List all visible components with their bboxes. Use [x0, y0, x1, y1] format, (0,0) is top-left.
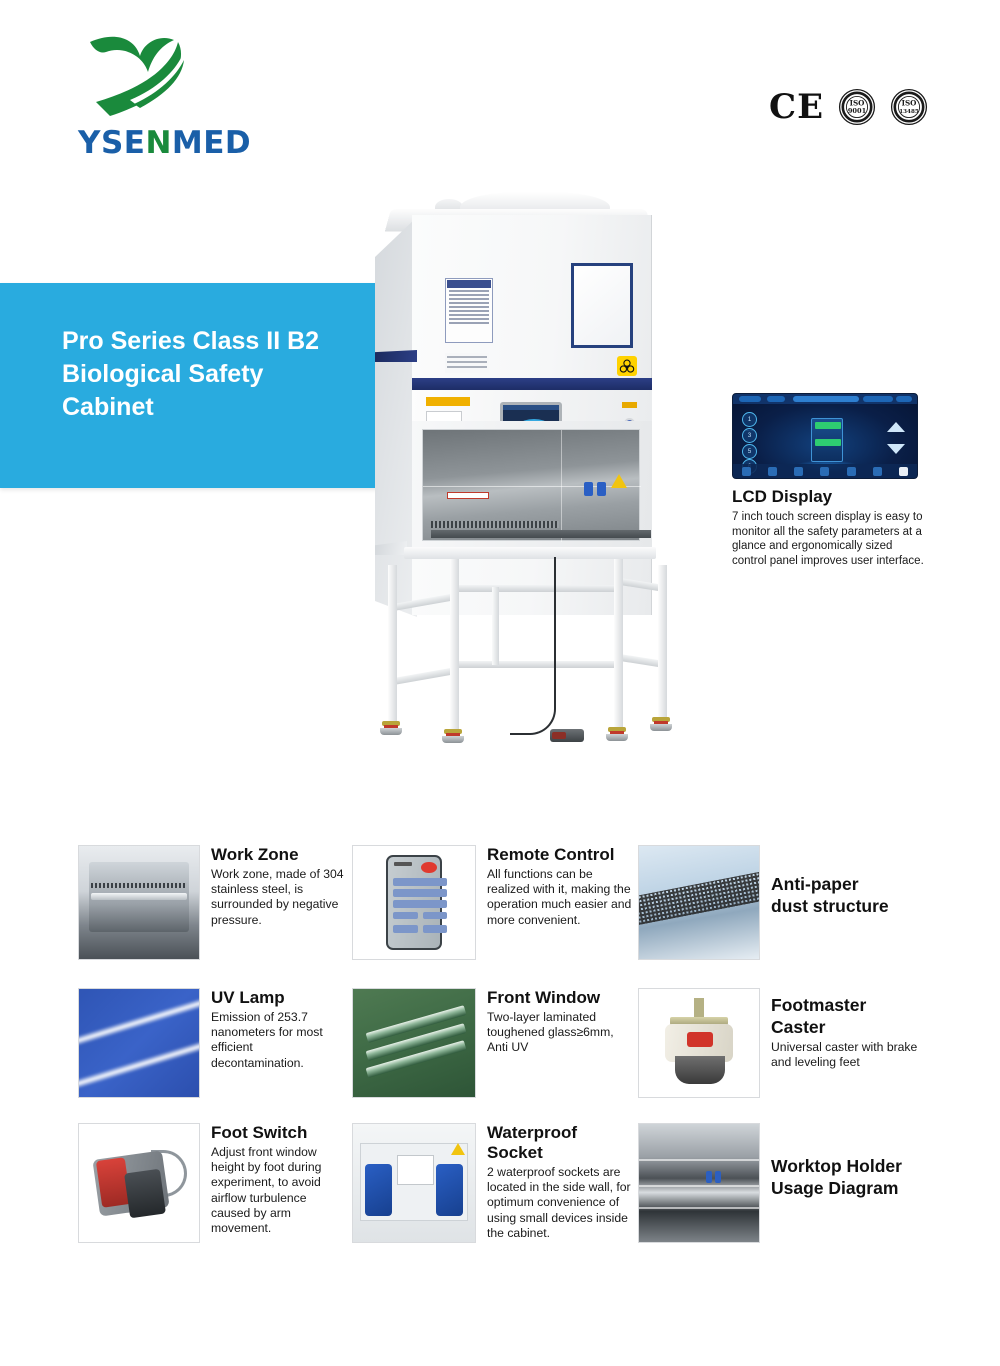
feature-description: Adjust front window height by foot durin…	[211, 1145, 345, 1236]
cabinet-spec-label	[445, 278, 493, 343]
feature-title: Remote Control	[487, 845, 632, 865]
feature-title-line1: Anti-paper	[771, 873, 936, 895]
lcd-menu-button-3[interactable]: 3	[742, 428, 757, 443]
brand-wordmark-leaf-letter: N	[145, 125, 171, 161]
lcd-toolbar-icon[interactable]	[873, 467, 882, 476]
feature-card-work-zone: Work Zone Work zone, made of 304 stainle…	[78, 845, 348, 960]
feature-title-line2: Usage Diagram	[771, 1177, 936, 1199]
page-title-line3: Cabinet	[62, 393, 154, 421]
feature-description: Work zone, made of 304 stainless steel, …	[211, 867, 345, 928]
feature-description: All functions can be realized with it, m…	[487, 867, 632, 928]
footmaster-caster-icon	[442, 729, 464, 744]
brand-wordmark-part1: YSE	[78, 125, 145, 161]
feature-description: Emission of 253.7 nanometers for most ef…	[211, 1010, 345, 1071]
cabinet-support-stand	[382, 557, 672, 747]
control-panel-amber-indicator	[622, 402, 637, 408]
lcd-status-bar	[733, 394, 917, 404]
lcd-sash-up-arrow[interactable]	[887, 422, 905, 432]
svg-text:13485: 13485	[899, 109, 919, 115]
footmaster-caster-photo	[638, 988, 760, 1098]
feature-title: Front Window	[487, 988, 632, 1008]
page-title-line2: Biological Safety	[62, 360, 263, 388]
work-zone-photo	[78, 845, 200, 960]
feature-title: Work Zone	[211, 845, 345, 865]
stand-leg	[658, 565, 667, 725]
brand-wordmark-part2: MED	[172, 125, 251, 161]
footmaster-caster-icon	[650, 717, 672, 732]
cabinet-blue-framed-panel	[571, 263, 633, 348]
lcd-toolbar-icon[interactable]	[768, 467, 777, 476]
footmaster-caster-icon	[606, 727, 628, 742]
feature-title-line1: Worktop Holder	[771, 1155, 936, 1177]
lcd-menu-button-5[interactable]: 5	[742, 444, 757, 459]
ce-mark-icon: CE	[769, 90, 824, 124]
biohazard-symbol-icon	[617, 356, 637, 376]
product-title-banner: Pro Series Class II B2 Biological Safety…	[0, 283, 387, 488]
anti-paper-dust-structure-photo	[638, 845, 760, 960]
worktop-holder-usage-diagram-photo	[638, 1123, 760, 1243]
waterproof-socket-photo	[352, 1123, 476, 1243]
feature-description: Two-layer laminated toughened glass≥6mm,…	[487, 1010, 632, 1056]
biological-safety-cabinet-photo	[352, 185, 742, 825]
stand-leg	[388, 565, 397, 725]
hero-section: Pro Series Class II B2 Biological Safety…	[0, 185, 1000, 835]
feature-description: 2 waterproof sockets are located in the …	[487, 1165, 632, 1241]
feature-title-line2: Caster	[771, 1016, 936, 1038]
remote-control-photo	[352, 845, 476, 960]
waterproof-socket-left	[584, 482, 593, 496]
iso-9001-badge-icon: ISO 9001	[838, 88, 876, 126]
page-header: YSENMED CE ISO 9001 ISO 13485	[0, 0, 1000, 185]
feature-card-footmaster-caster: Footmaster Caster Universal caster with …	[638, 988, 938, 1098]
waterproof-socket-right	[597, 482, 606, 496]
lcd-sash-down-arrow[interactable]	[887, 444, 905, 454]
lcd-callout-title: LCD Display	[732, 487, 927, 507]
feature-title: UV Lamp	[211, 988, 345, 1008]
brand-logo: YSENMED	[78, 30, 308, 170]
footmaster-caster-icon	[380, 721, 402, 736]
lcd-toolbar-icon[interactable]	[847, 467, 856, 476]
lcd-toolbar	[733, 464, 917, 478]
lcd-menu-button-1[interactable]: 1	[742, 412, 757, 427]
lcd-touchscreen-photo: 1 — — 3 5 6	[732, 393, 918, 479]
feature-title: Foot Switch	[211, 1123, 345, 1143]
control-panel-warning-strip	[426, 397, 470, 406]
feature-card-waterproof-socket: Waterproof Socket 2 waterproof sockets a…	[352, 1123, 632, 1243]
warning-triangle-icon	[611, 474, 627, 488]
lcd-toolbar-icon[interactable]	[820, 467, 829, 476]
leaf-sprout-logo-icon	[82, 30, 192, 125]
foot-switch-pedal[interactable]	[550, 729, 584, 742]
lcd-display-callout: 1 — — 3 5 6 LCD Display 7 inch to	[732, 393, 927, 568]
lcd-toolbar-icon[interactable]	[742, 467, 751, 476]
feature-grid: Work Zone Work zone, made of 304 stainle…	[0, 838, 1000, 1298]
front-window-sash[interactable]	[422, 429, 640, 541]
uv-lamp-photo	[78, 988, 200, 1098]
lcd-cabinet-diagram	[811, 418, 843, 462]
iso-13485-badge-icon: ISO 13485	[890, 88, 928, 126]
cabinet-upper-housing	[412, 215, 651, 382]
lcd-settings-gear-icon[interactable]	[899, 467, 908, 476]
lcd-callout-description: 7 inch touch screen display is easy to m…	[732, 510, 925, 568]
cabinet-blue-band	[412, 378, 652, 390]
feature-card-remote-control: Remote Control All functions can be real…	[352, 845, 632, 960]
feature-title-line1: Footmaster	[771, 994, 936, 1016]
svg-text:ISO: ISO	[902, 98, 917, 107]
cabinet-sash-frame	[412, 421, 652, 549]
feature-description: Universal caster with brake and leveling…	[771, 1040, 936, 1070]
certification-marks: CE ISO 9001 ISO 13485	[769, 88, 928, 126]
feature-title-line2: dust structure	[771, 895, 936, 917]
svg-text:9001: 9001	[848, 107, 866, 115]
lcd-toolbar-icon[interactable]	[794, 467, 803, 476]
front-window-glass-photo	[352, 988, 476, 1098]
feature-title-line2: Socket	[487, 1143, 632, 1163]
page-title: Pro Series Class II B2 Biological Safety…	[62, 325, 372, 424]
foot-switch-photo	[78, 1123, 200, 1243]
airflow-grille	[431, 521, 559, 528]
stand-leg	[614, 559, 623, 733]
feature-card-front-window: Front Window Two-layer laminated toughen…	[352, 988, 632, 1098]
page-title-line1: Pro Series Class II B2	[62, 327, 319, 355]
feature-card-anti-paper-dust-structure: Anti-paper dust structure	[638, 845, 938, 960]
feature-card-foot-switch: Foot Switch Adjust front window height b…	[78, 1123, 348, 1243]
brand-wordmark: YSENMED	[78, 125, 251, 161]
foot-switch-cable	[510, 557, 556, 735]
sash-warning-label	[447, 492, 489, 499]
feature-title-line1: Waterproof	[487, 1123, 632, 1143]
feature-card-worktop-holder-usage-diagram: Worktop Holder Usage Diagram	[638, 1123, 938, 1243]
feature-card-uv-lamp: UV Lamp Emission of 253.7 nanometers for…	[78, 988, 348, 1098]
cabinet-secondary-label	[445, 353, 489, 373]
stand-leg	[450, 559, 459, 733]
